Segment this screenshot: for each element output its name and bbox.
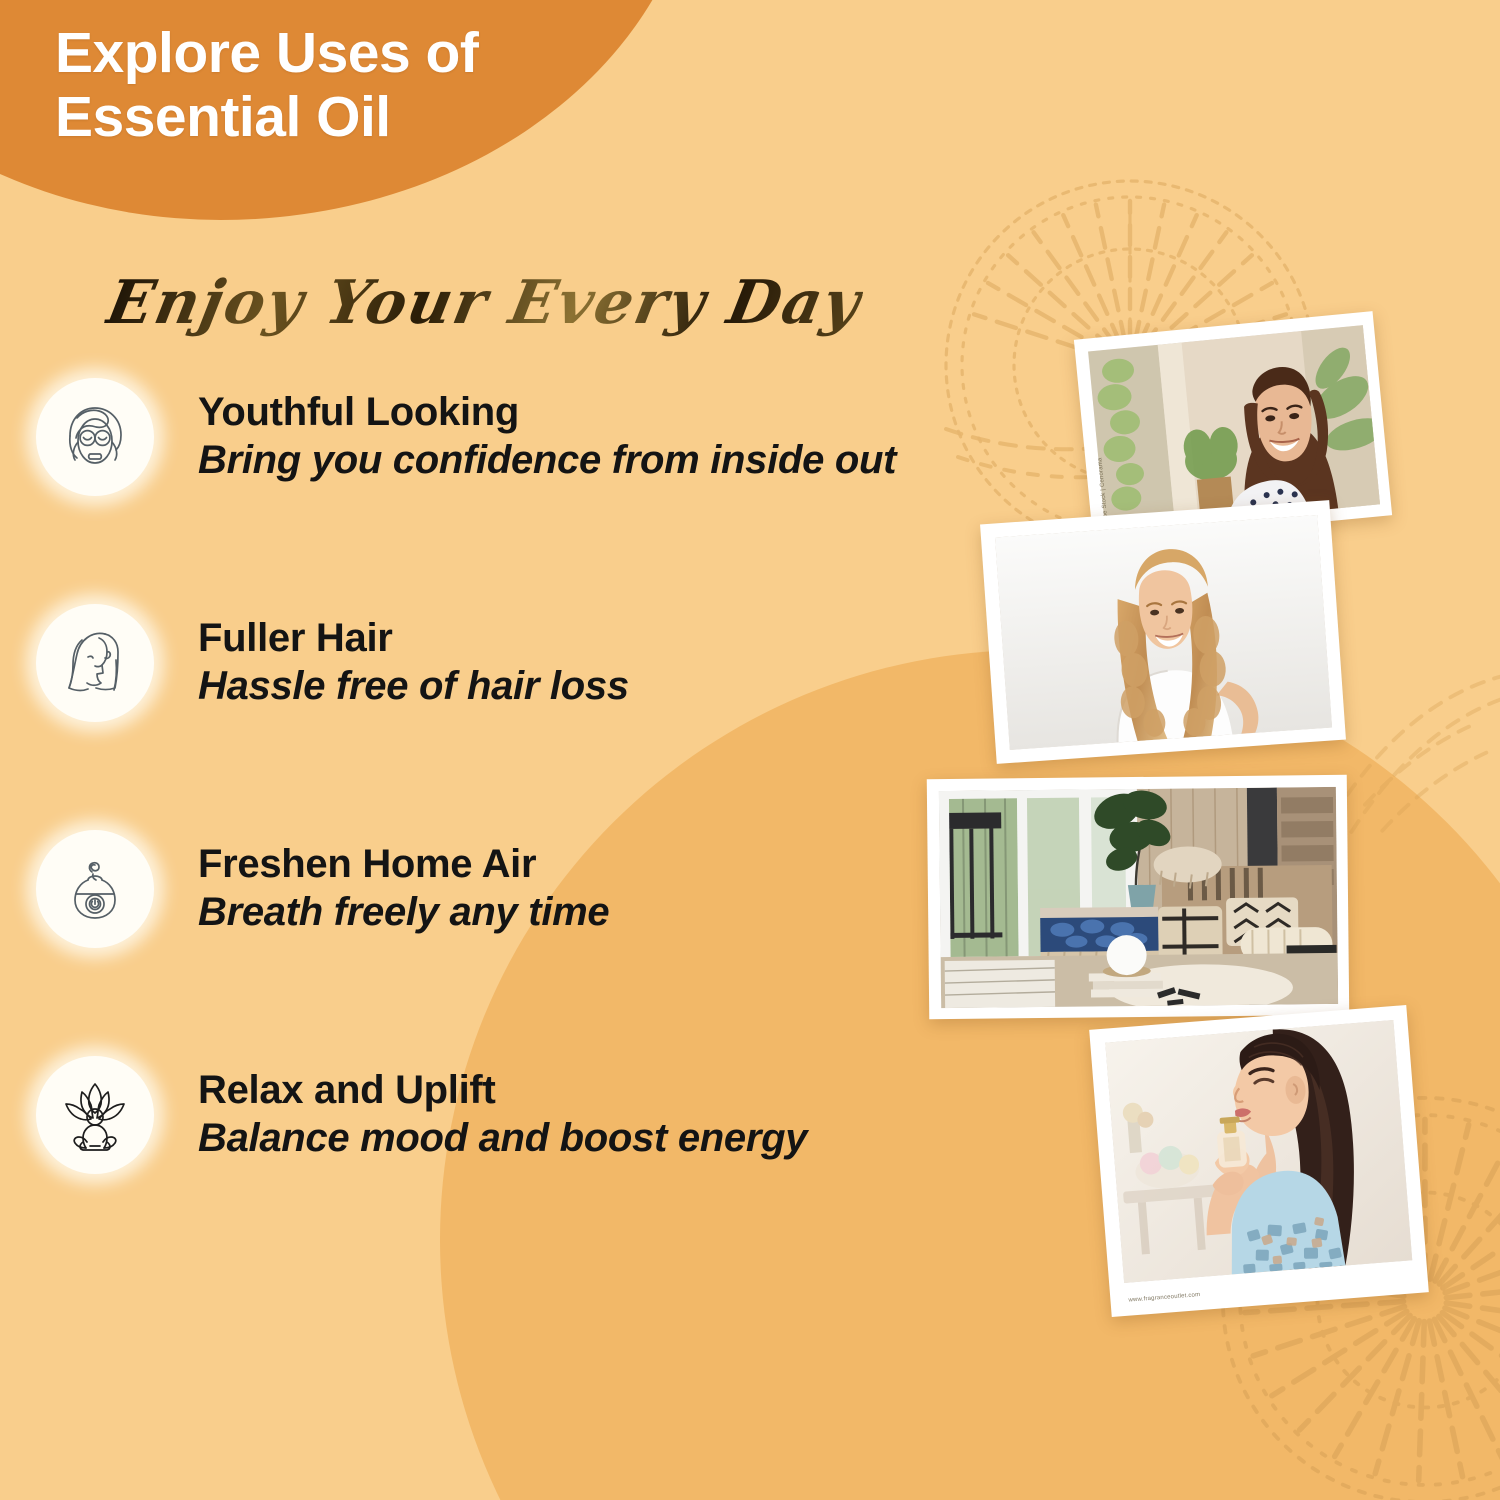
feature-subtitle: Breath freely any time	[198, 889, 609, 936]
feature-item-relax-and-uplift: Relax and Uplift Balance mood and boost …	[0, 1056, 1000, 1174]
feature-title: Fuller Hair	[198, 616, 629, 661]
woman-long-hair-icon	[36, 604, 154, 722]
feature-subtitle: Hassle free of hair loss	[198, 663, 629, 710]
feature-subtitle: Bring you confidence from inside out	[198, 437, 896, 484]
photo-image-living-room	[939, 787, 1338, 1008]
feature-title: Relax and Uplift	[198, 1068, 807, 1113]
feature-text-block: Youthful Looking Bring you confidence fr…	[198, 390, 896, 484]
lotus-meditation-icon	[36, 1056, 154, 1174]
feature-subtitle: Balance mood and boost energy	[198, 1115, 807, 1162]
photo-image-blonde-woman	[995, 515, 1332, 750]
face-mask-icon	[36, 378, 154, 496]
photo-image-smiling-woman	[1088, 325, 1380, 531]
photo-image-perfume-woman	[1105, 1020, 1412, 1283]
feature-item-freshen-home-air: Freshen Home Air Breath freely any time	[0, 830, 1000, 948]
photo-card-fuller-hair	[980, 500, 1346, 764]
feature-title: Youthful Looking	[198, 390, 896, 435]
feature-title: Freshen Home Air	[198, 842, 609, 887]
photo-watermark: www.fragranceoutlet.com	[1128, 1292, 1200, 1304]
feature-item-youthful-looking: Youthful Looking Bring you confidence fr…	[0, 378, 1000, 496]
feature-text-block: Freshen Home Air Breath freely any time	[198, 842, 609, 936]
photo-card-freshen-home-air	[927, 775, 1349, 1019]
tagline: Enjoy Your Every Day	[101, 268, 867, 338]
page-title-line-1: Explore Uses of	[55, 21, 478, 85]
photo-card-relax-and-uplift: www.fragranceoutlet.com	[1089, 1005, 1429, 1317]
feature-item-fuller-hair: Fuller Hair Hassle free of hair loss	[0, 604, 1000, 722]
feature-text-block: Relax and Uplift Balance mood and boost …	[198, 1068, 807, 1162]
feature-list: Youthful Looking Bring you confidence fr…	[0, 378, 1000, 1174]
page-title: Explore Uses of Essential Oil	[55, 22, 675, 150]
page-title-line-2: Essential Oil	[55, 86, 675, 150]
feature-text-block: Fuller Hair Hassle free of hair loss	[198, 616, 629, 710]
aroma-diffuser-icon	[36, 830, 154, 948]
